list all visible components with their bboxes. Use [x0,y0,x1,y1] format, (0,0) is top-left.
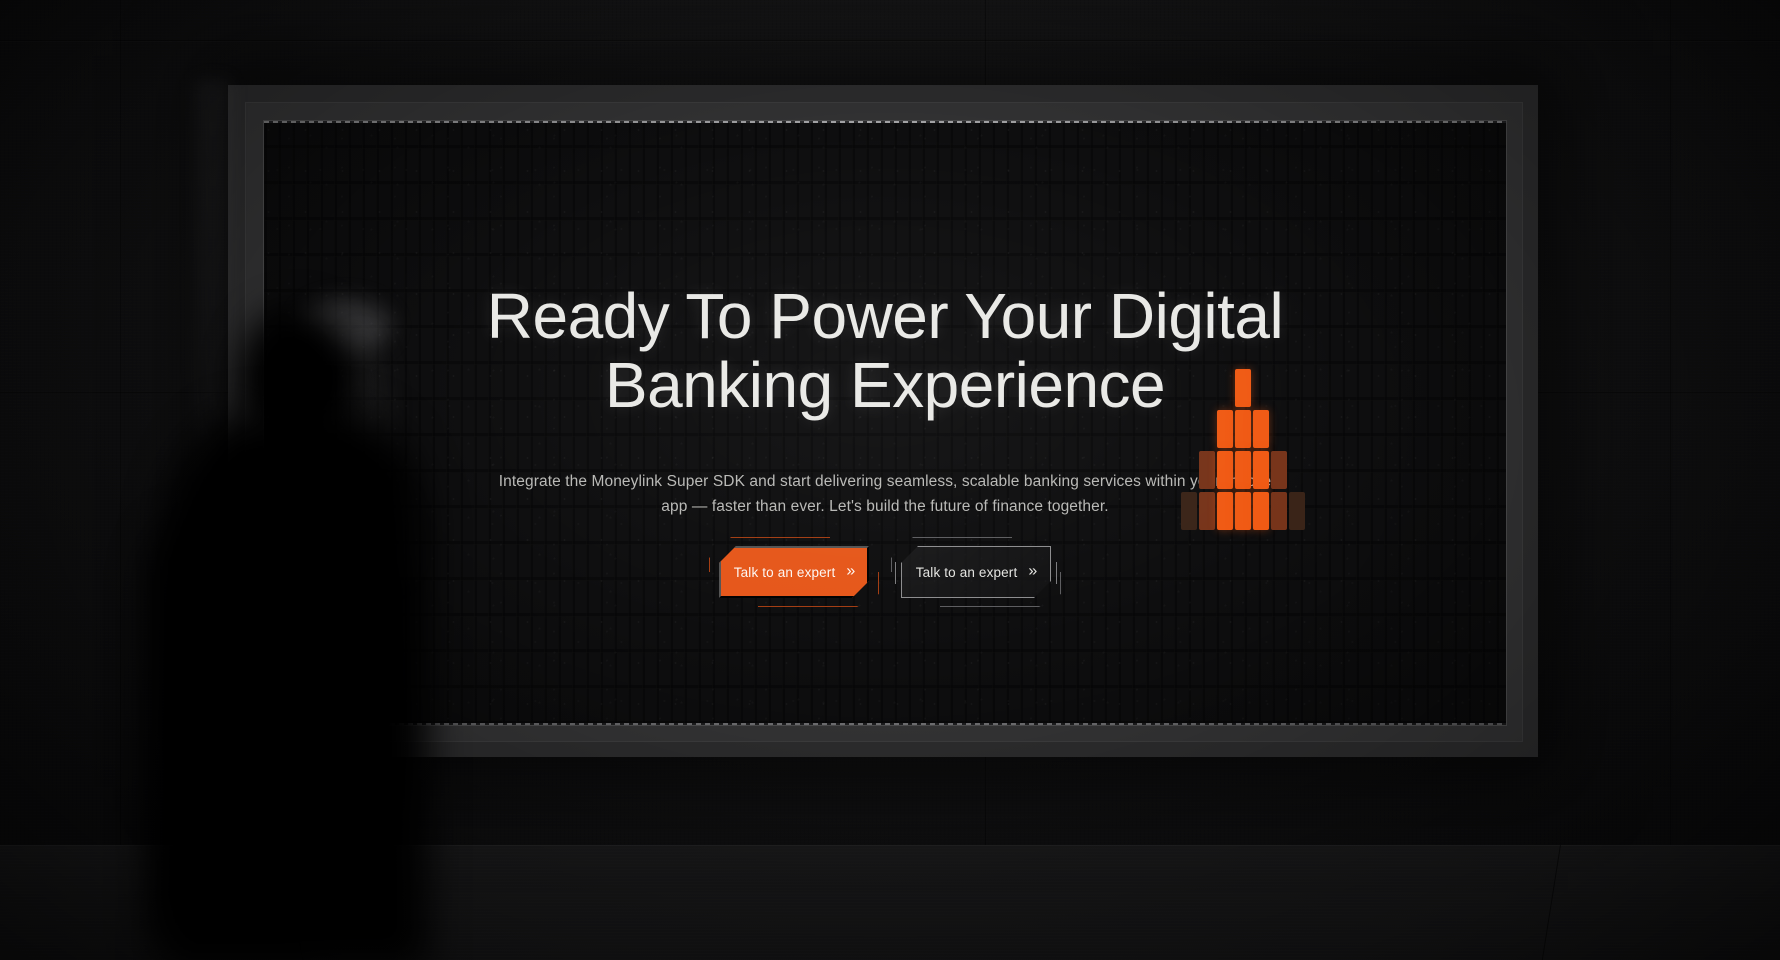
pyramid-bar [1235,410,1251,448]
subheading-line-1: Integrate the Moneylink Super SDK and st… [499,473,1141,490]
pyramid-bar [1271,451,1287,489]
double-chevron-right-icon: » [1028,564,1036,580]
pyramid-bar [1217,410,1233,448]
billboard-bezel: Ready To Power Your Digital Banking Expe… [245,102,1523,742]
headline-line-2: Banking Experience [264,351,1506,420]
pyramid-bar [1217,451,1233,489]
floor-grain-texture [0,845,1780,960]
wall-seam-vertical-left [120,0,121,845]
talk-to-an-expert-secondary-button[interactable]: Talk to an expert » [901,546,1051,598]
headline-line-1: Ready To Power Your Digital [487,280,1283,352]
wall-seam-highlight [0,41,1780,42]
primary-cta-wrapper: Talk to an expert » [719,546,869,598]
pyramid-bar [1181,492,1197,530]
floor-wall-junction-line [0,845,1780,846]
pyramid-bar [1271,492,1287,530]
bar-pyramid-icon [1189,369,1297,509]
talk-to-an-expert-primary-button[interactable]: Talk to an expert » [719,546,869,598]
billboard-screen: Ready To Power Your Digital Banking Expe… [263,120,1507,726]
wall-seam-vertical-right [1670,0,1671,845]
pyramid-bar [1235,369,1251,407]
cta-button-row: Talk to an expert » Talk to an expert [264,546,1506,598]
screen-content: Ready To Power Your Digital Banking Expe… [264,121,1506,725]
double-chevron-right-icon: » [846,564,854,580]
secondary-cta-edge-tick-right [1056,562,1057,584]
secondary-cta-label: Talk to an expert [916,565,1018,580]
pyramid-bar [1199,492,1215,530]
pyramid-bar [1217,492,1233,530]
secondary-cta-wrapper: Talk to an expert » [901,546,1051,598]
page-title: Ready To Power Your Digital Banking Expe… [264,282,1506,420]
billboard-scene: Ready To Power Your Digital Banking Expe… [0,0,1780,960]
primary-cta-label: Talk to an expert [734,565,836,580]
secondary-cta-edge-tick-left [895,562,896,584]
pyramid-bar [1253,451,1269,489]
subheading: Integrate the Moneylink Super SDK and st… [485,469,1285,519]
pyramid-bar [1235,492,1251,530]
pyramid-bar [1235,451,1251,489]
pyramid-bar [1253,410,1269,448]
pyramid-bar [1289,492,1305,530]
pyramid-bar [1199,451,1215,489]
pyramid-bar [1253,492,1269,530]
billboard-frame: Ready To Power Your Digital Banking Expe… [228,85,1538,757]
floor [0,845,1780,960]
